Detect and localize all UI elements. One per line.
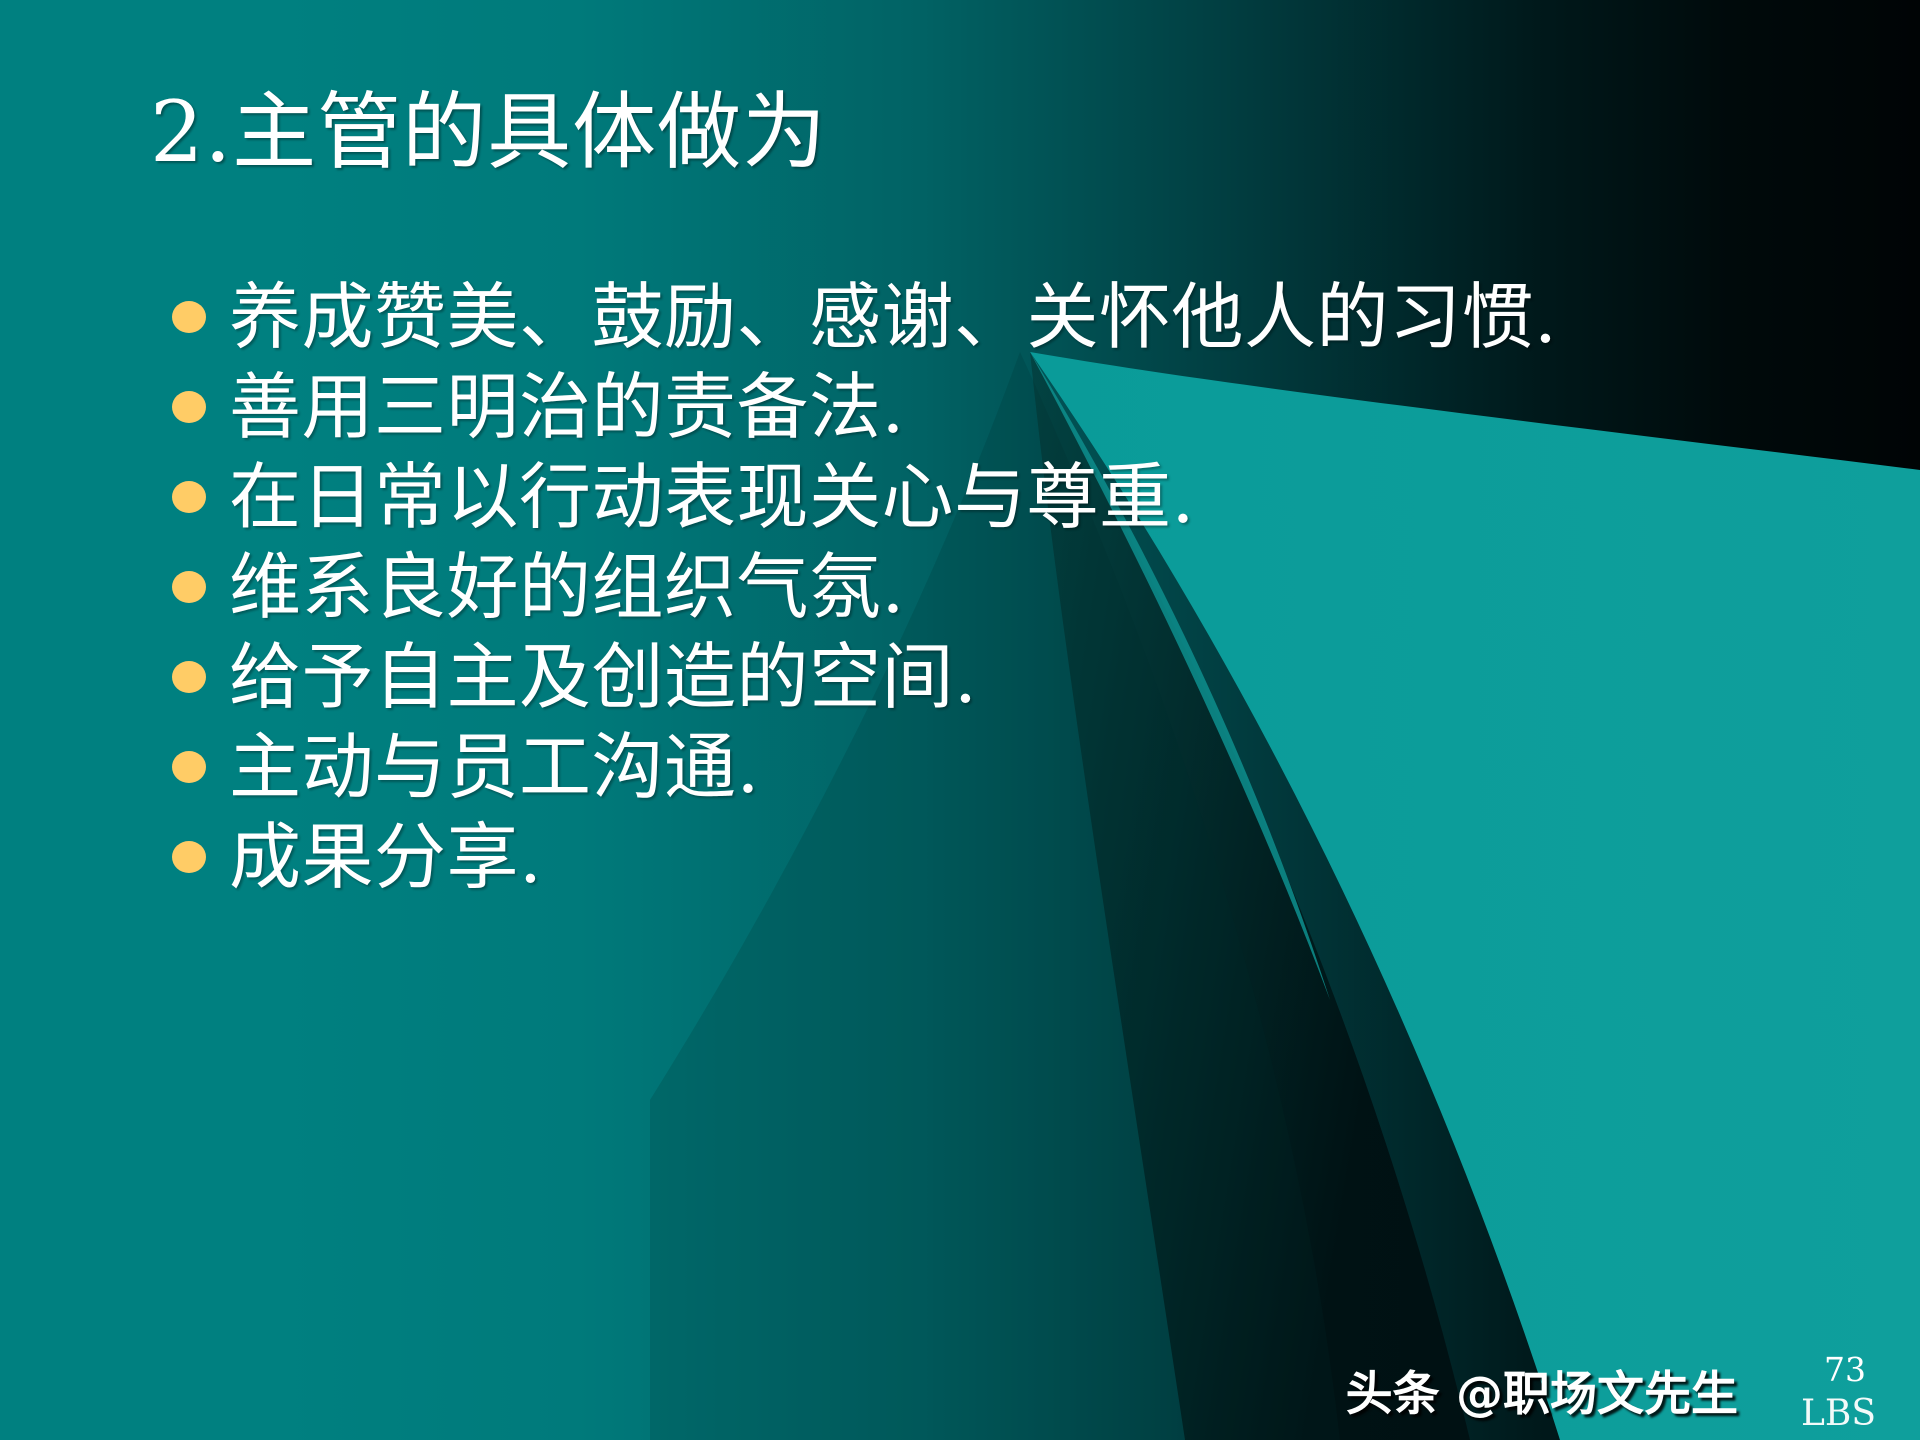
- list-item-label: 主动与员工沟通.: [229, 731, 760, 803]
- list-item: 给予自主及创造的空间.: [150, 632, 1850, 722]
- bullet-dot-icon: [172, 661, 206, 693]
- page-title: 2.主管的具体做为: [150, 88, 827, 176]
- list-item: 善用三明治的责备法.: [150, 362, 1850, 452]
- list-item: 维系良好的组织气氛.: [150, 542, 1850, 632]
- bullet-dot-icon: [172, 481, 206, 513]
- list-item: 成果分享.: [150, 812, 1850, 902]
- bullet-dot-icon: [172, 751, 206, 783]
- presentation-slide: 2.主管的具体做为 养成赞美、鼓励、感谢、关怀他人的习惯. 善用三明治的责备法.…: [0, 0, 1920, 1440]
- bullet-dot-icon: [172, 841, 206, 873]
- list-item-label: 成果分享.: [229, 821, 542, 893]
- list-item: 在日常以行动表现关心与尊重.: [150, 452, 1850, 542]
- list-item-label: 善用三明治的责备法.: [229, 371, 905, 443]
- bullet-list: 养成赞美、鼓励、感谢、关怀他人的习惯. 善用三明治的责备法. 在日常以行动表现关…: [150, 272, 1850, 902]
- list-item: 主动与员工沟通.: [150, 722, 1850, 812]
- bullet-dot-icon: [172, 391, 206, 423]
- corner-mark: LBS: [1801, 1396, 1876, 1432]
- bullet-dot-icon: [172, 571, 206, 603]
- list-item-label: 给予自主及创造的空间.: [229, 641, 977, 713]
- page-number: 73: [1824, 1353, 1866, 1386]
- list-item-label: 在日常以行动表现关心与尊重.: [229, 461, 1195, 533]
- watermark-text: 头条 @职场文先生: [1346, 1355, 1738, 1424]
- list-item-label: 维系良好的组织气氛.: [229, 551, 905, 623]
- list-item-label: 养成赞美、鼓励、感谢、关怀他人的习惯.: [229, 281, 1557, 353]
- list-item: 养成赞美、鼓励、感谢、关怀他人的习惯.: [150, 272, 1850, 362]
- bullet-dot-icon: [172, 301, 206, 333]
